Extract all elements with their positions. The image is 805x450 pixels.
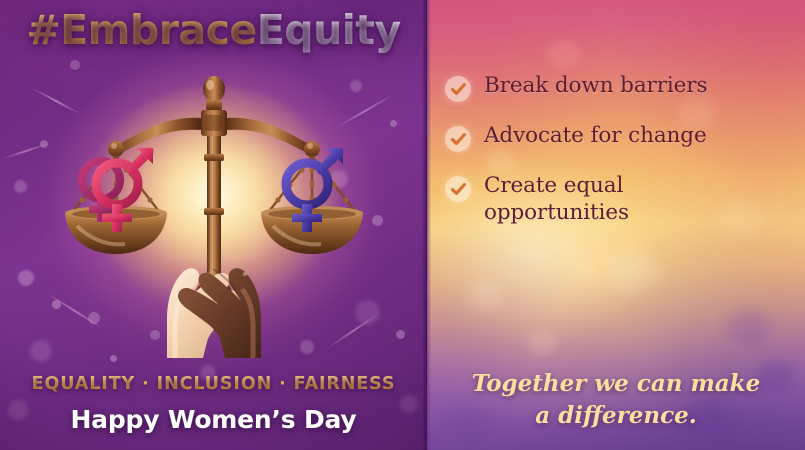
balance-scale-illustration	[49, 58, 379, 358]
list-item: Create equal opportunities	[445, 172, 787, 226]
list-item: Break down barriers	[445, 72, 787, 102]
checklist-item-label: Break down barriers	[484, 72, 707, 99]
right-panel: Break down barriers Advocate for change …	[427, 0, 805, 450]
greeting-text: Happy Women’s Day	[0, 405, 427, 434]
values-tagline: EQUALITY · INCLUSION · FAIRNESS	[0, 374, 427, 394]
embrace-equity-poster: #EmbraceEquity	[0, 0, 805, 450]
checklist-item-label: Advocate for change	[484, 122, 707, 149]
page-title: #EmbraceEquity	[0, 6, 427, 54]
checklist-item-label: Create equal opportunities	[484, 172, 664, 226]
check-circle-icon	[445, 126, 471, 152]
closing-line-2: a difference.	[427, 400, 805, 432]
check-circle-icon	[445, 76, 471, 102]
left-panel: #EmbraceEquity	[0, 0, 427, 450]
balance-scale-svg	[49, 58, 379, 358]
list-item: Advocate for change	[445, 122, 787, 152]
closing-statement: Together we can make a difference.	[427, 368, 805, 432]
action-checklist: Break down barriers Advocate for change …	[445, 72, 787, 246]
check-circle-icon	[445, 176, 471, 202]
headline-gold-part: #Embrace	[26, 6, 256, 54]
closing-line-1: Together we can make	[472, 370, 761, 397]
headline-white-part: Equity	[257, 6, 401, 54]
